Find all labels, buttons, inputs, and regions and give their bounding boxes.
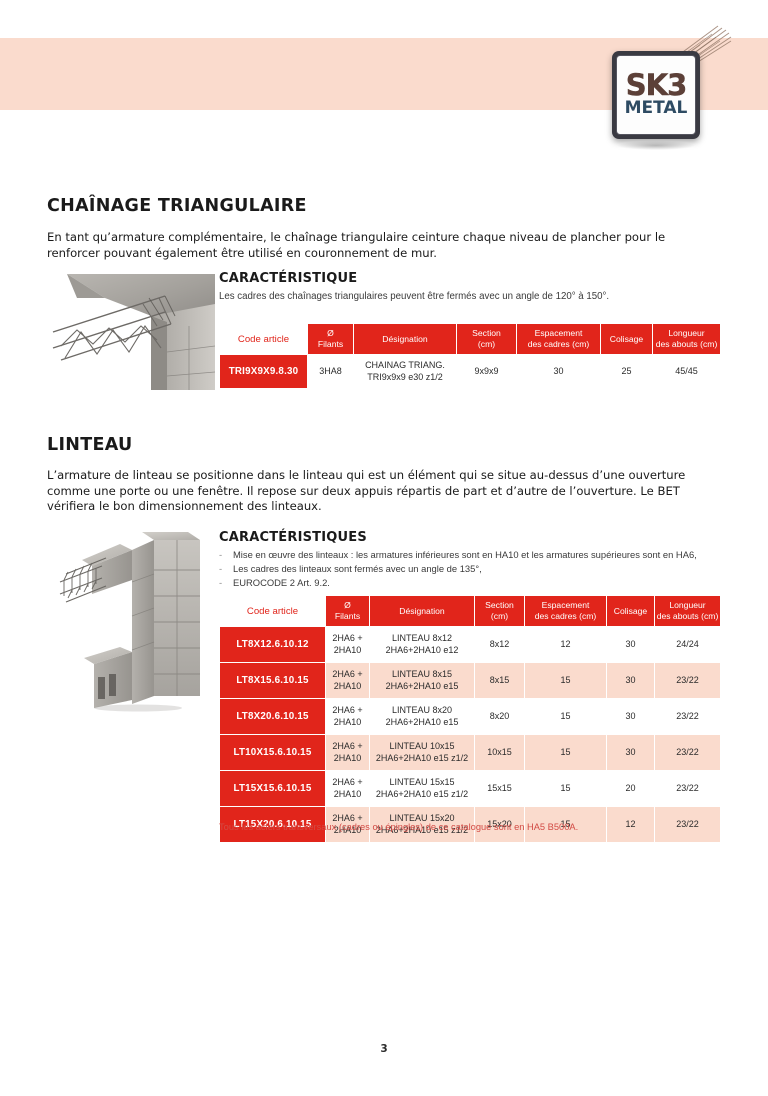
th-line-1: Longueur <box>669 600 705 610</box>
line-1: LINTEAU 10x15 <box>389 741 454 751</box>
cell-section: 15x15 <box>475 771 525 807</box>
cell-longueur: 45/45 <box>653 355 721 389</box>
cell-section: 9x9x9 <box>457 355 517 389</box>
cell-espacement: 12 <box>525 627 607 663</box>
th-espacement: Espacement des cadres (cm) <box>517 324 601 355</box>
th-espacement: Espacement des cadres (cm) <box>525 596 607 627</box>
cell-designation: LINTEAU 10x152HA6+2HA10 e15 z1/2 <box>370 735 475 771</box>
cell-code: TRI9X9X9.8.30 <box>220 355 308 389</box>
cell-section: 8x12 <box>475 627 525 663</box>
th-designation: Désignation <box>370 596 475 627</box>
cell-longueur: 23/22 <box>655 735 721 771</box>
dash-marker: - <box>219 576 233 590</box>
line-1: LINTEAU 8x12 <box>392 633 452 643</box>
cell-filants: 2HA6 +2HA10 <box>326 735 370 771</box>
table-row: LT10X15.6.10.152HA6 +2HA10LINTEAU 10x152… <box>220 735 721 771</box>
line-2: 2HA10 <box>334 789 362 799</box>
th-code-article: Code article <box>220 596 326 627</box>
cell-section: 8x20 <box>475 699 525 735</box>
carac-bullet-list: -Mise en œuvre des linteaux : les armatu… <box>219 548 697 591</box>
th-designation: Désignation <box>354 324 457 355</box>
cell-longueur: 23/22 <box>655 771 721 807</box>
cell-longueur: 24/24 <box>655 627 721 663</box>
cell-designation: LINTEAU 8x202HA6+2HA10 e15 <box>370 699 475 735</box>
logo-drop-shadow <box>618 141 694 150</box>
cell-filants: 2HA6 +2HA10 <box>326 663 370 699</box>
line-2: 2HA10 <box>334 645 362 655</box>
section-intro-chainage: En tant qu’armature complémentaire, le c… <box>47 230 707 261</box>
carac-title-linteau: CARACTÉRISTIQUES <box>219 530 367 545</box>
th-line-2: (cm) <box>491 611 508 621</box>
bullet-item: -Mise en œuvre des linteaux : les armatu… <box>219 548 697 562</box>
th-line-1: Ø <box>344 600 351 610</box>
line-1: LINTEAU 8x15 <box>392 669 452 679</box>
cell-code: LT15X15.6.10.15 <box>220 771 326 807</box>
cell-espacement: 30 <box>517 355 601 389</box>
cell-filants: 2HA6 +2HA10 <box>326 627 370 663</box>
bullet-item: -Les cadres des linteaux sont fermés ave… <box>219 562 697 576</box>
line-2: 2HA6+2HA10 e15 z1/2 <box>376 789 468 799</box>
th-line-2: des cadres (cm) <box>528 339 590 349</box>
lintel-wall-render <box>58 522 218 712</box>
cell-longueur: 23/22 <box>655 663 721 699</box>
th-line-1: Longueur <box>668 328 704 338</box>
table-linteau: Code article Ø Filants Désignation Secti… <box>219 595 721 843</box>
section-title-chainage: CHAÎNAGE TRIANGULAIRE <box>47 196 307 216</box>
logo-frame: SK3 METAL <box>612 51 700 139</box>
cell-designation: CHAINAG TRIANG. TRI9x9x9 e30 z1/2 <box>354 355 457 389</box>
cell-espacement: 15 <box>525 771 607 807</box>
cell-designation: LINTEAU 8x122HA6+2HA10 e12 <box>370 627 475 663</box>
th-diametre-filants: Ø Filants <box>308 324 354 355</box>
footnote-steel-note: Tous les aciers transversaux (cadres ou … <box>219 822 578 832</box>
th-line-2: Filants <box>318 339 343 349</box>
cell-colisage: 30 <box>607 699 655 735</box>
cell-section: 10x15 <box>475 735 525 771</box>
th-line-2: des abouts (cm) <box>656 339 718 349</box>
cell-longueur: 23/22 <box>655 807 721 843</box>
cell-colisage: 12 <box>607 807 655 843</box>
table-chainage: Code article Ø Filants Désignation Secti… <box>219 323 721 389</box>
th-line-1: Espacement <box>542 600 590 610</box>
bullet-text: Les cadres des linteaux sont fermés avec… <box>233 563 482 574</box>
dash-marker: - <box>219 562 233 576</box>
th-diametre-filants: Ø Filants <box>326 596 370 627</box>
th-longueur-abouts: Longueur des abouts (cm) <box>655 596 721 627</box>
line-2: 2HA10 <box>334 717 362 727</box>
designation-line-1: CHAINAG TRIANG. <box>365 360 445 370</box>
section-title-linteau: LINTEAU <box>47 435 133 455</box>
page-number: 3 <box>0 1043 768 1055</box>
line-1: 2HA6 + <box>332 777 362 787</box>
th-line-1: Espacement <box>535 328 583 338</box>
line-2: 2HA6+2HA10 e12 <box>386 645 459 655</box>
th-line-1: Ø <box>327 328 334 338</box>
table-row: LT8X20.6.10.152HA6 +2HA10LINTEAU 8x202HA… <box>220 699 721 735</box>
th-line-2: des cadres (cm) <box>535 611 597 621</box>
cell-espacement: 15 <box>525 699 607 735</box>
th-colisage: Colisage <box>607 596 655 627</box>
line-2: 2HA10 <box>334 681 362 691</box>
cell-code: LT8X20.6.10.15 <box>220 699 326 735</box>
dash-marker: - <box>219 548 233 562</box>
table-row: TRI9X9X9.8.30 3HA8 CHAINAG TRIANG. TRI9x… <box>220 355 721 389</box>
line-2: 2HA10 <box>334 753 362 763</box>
cell-colisage: 30 <box>607 663 655 699</box>
line-1: LINTEAU 15x15 <box>389 777 454 787</box>
logo-metal-text: METAL <box>625 100 688 118</box>
cell-designation: LINTEAU 15x152HA6+2HA10 e15 z1/2 <box>370 771 475 807</box>
th-line-1: Section <box>485 600 514 610</box>
line-2: 2HA6+2HA10 e15 <box>386 717 459 727</box>
logo-inner: SK3 METAL <box>616 55 696 135</box>
line-1: 2HA6 + <box>332 741 362 751</box>
cell-colisage: 25 <box>601 355 653 389</box>
bullet-text: EUROCODE 2 Art. 9.2. <box>233 577 330 588</box>
cell-espacement: 15 <box>525 735 607 771</box>
line-1: 2HA6 + <box>332 705 362 715</box>
cell-code: LT8X15.6.10.15 <box>220 663 326 699</box>
cell-code: LT8X12.6.10.12 <box>220 627 326 663</box>
bullet-item: -EUROCODE 2 Art. 9.2. <box>219 576 697 590</box>
triangular-chaining-photo <box>47 268 215 396</box>
th-code-article: Code article <box>220 324 308 355</box>
carac-text-chainage: Les cadres des chaînages triangulaires p… <box>219 290 719 304</box>
cell-filants: 2HA6 +2HA10 <box>326 699 370 735</box>
th-line-1: Section <box>472 328 501 338</box>
cell-colisage: 20 <box>607 771 655 807</box>
logo-sk3-text: SK3 <box>626 72 687 100</box>
designation-line-2: TRI9x9x9 e30 z1/2 <box>367 372 443 382</box>
th-line-2: Filants <box>335 611 360 621</box>
cell-code: LT10X15.6.10.15 <box>220 735 326 771</box>
table-header-row: Code article Ø Filants Désignation Secti… <box>220 324 721 355</box>
line-1: 2HA6 + <box>332 633 362 643</box>
th-colisage: Colisage <box>601 324 653 355</box>
cell-filants: 2HA6 +2HA10 <box>326 771 370 807</box>
bullet-text: Mise en œuvre des linteaux : les armatur… <box>233 549 697 560</box>
table-header-row: Code article Ø Filants Désignation Secti… <box>220 596 721 627</box>
cell-colisage: 30 <box>607 627 655 663</box>
section-intro-linteau: L’armature de linteau se positionne dans… <box>47 468 712 515</box>
line-1: 2HA6 + <box>332 669 362 679</box>
line-2: 2HA6+2HA10 e15 <box>386 681 459 691</box>
th-section: Section (cm) <box>475 596 525 627</box>
table-row: LT15X15.6.10.152HA6 +2HA10LINTEAU 15x152… <box>220 771 721 807</box>
th-longueur-abouts: Longueur des abouts (cm) <box>653 324 721 355</box>
th-section: Section (cm) <box>457 324 517 355</box>
cell-designation: LINTEAU 8x152HA6+2HA10 e15 <box>370 663 475 699</box>
line-1: LINTEAU 8x20 <box>392 705 452 715</box>
table-row: LT8X15.6.10.152HA6 +2HA10LINTEAU 8x152HA… <box>220 663 721 699</box>
cell-colisage: 30 <box>607 735 655 771</box>
table-row: LT8X12.6.10.122HA6 +2HA10LINTEAU 8x122HA… <box>220 627 721 663</box>
carac-title-chainage: CARACTÉRISTIQUE <box>219 271 357 286</box>
cell-filants: 3HA8 <box>308 355 354 389</box>
th-line-2: (cm) <box>478 339 495 349</box>
cell-section: 8x15 <box>475 663 525 699</box>
cell-espacement: 15 <box>525 663 607 699</box>
brand-logo: SK3 METAL <box>612 37 712 139</box>
th-line-2: des abouts (cm) <box>657 611 719 621</box>
cell-longueur: 23/22 <box>655 699 721 735</box>
line-2: 2HA6+2HA10 e15 z1/2 <box>376 753 468 763</box>
